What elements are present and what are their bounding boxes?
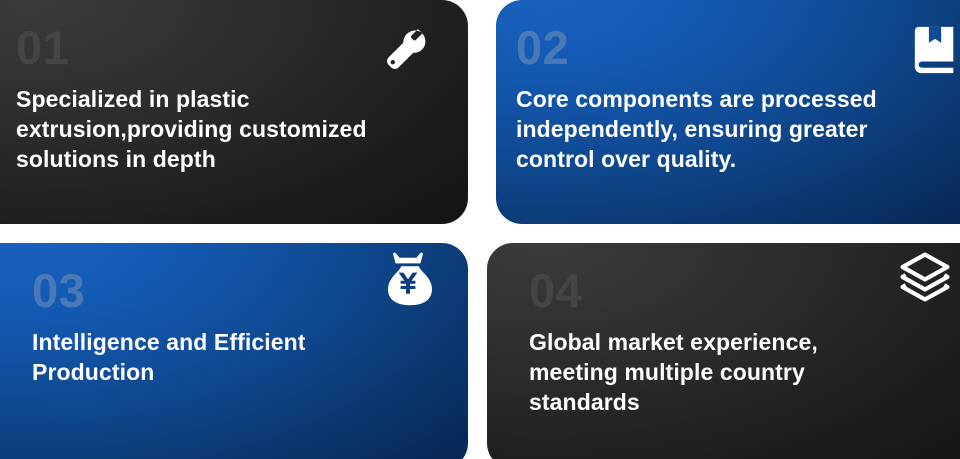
book-bookmark-icon: [910, 24, 960, 76]
feature-card-grid: 01 Specialized in plastic extrusion,prov…: [0, 0, 960, 459]
card-number: 02: [516, 24, 960, 71]
card-number: 01: [16, 24, 438, 71]
feature-card-03[interactable]: 03 Intelligence and Efficient Production: [0, 243, 468, 459]
card-number: 03: [32, 267, 438, 314]
card-title: Specialized in plastic extrusion,providi…: [16, 85, 438, 175]
feature-card-01[interactable]: 01 Specialized in plastic extrusion,prov…: [0, 0, 468, 224]
feature-card-02[interactable]: 02 Core components are processed indepen…: [496, 0, 960, 224]
card-title: Global market experience, meeting multip…: [529, 328, 929, 418]
card-content: 04 Global market experience, meeting mul…: [487, 243, 960, 459]
money-bag-yen-icon: [382, 253, 434, 305]
card-number: 04: [529, 267, 957, 314]
card-content: 02 Core components are processed indepen…: [496, 0, 960, 224]
wrench-icon: [380, 24, 432, 76]
feature-card-04[interactable]: 04 Global market experience, meeting mul…: [487, 243, 960, 459]
layers-stack-icon: [899, 251, 951, 303]
card-title: Core components are processed independen…: [516, 85, 960, 175]
card-title: Intelligence and Efficient Production: [32, 328, 432, 388]
